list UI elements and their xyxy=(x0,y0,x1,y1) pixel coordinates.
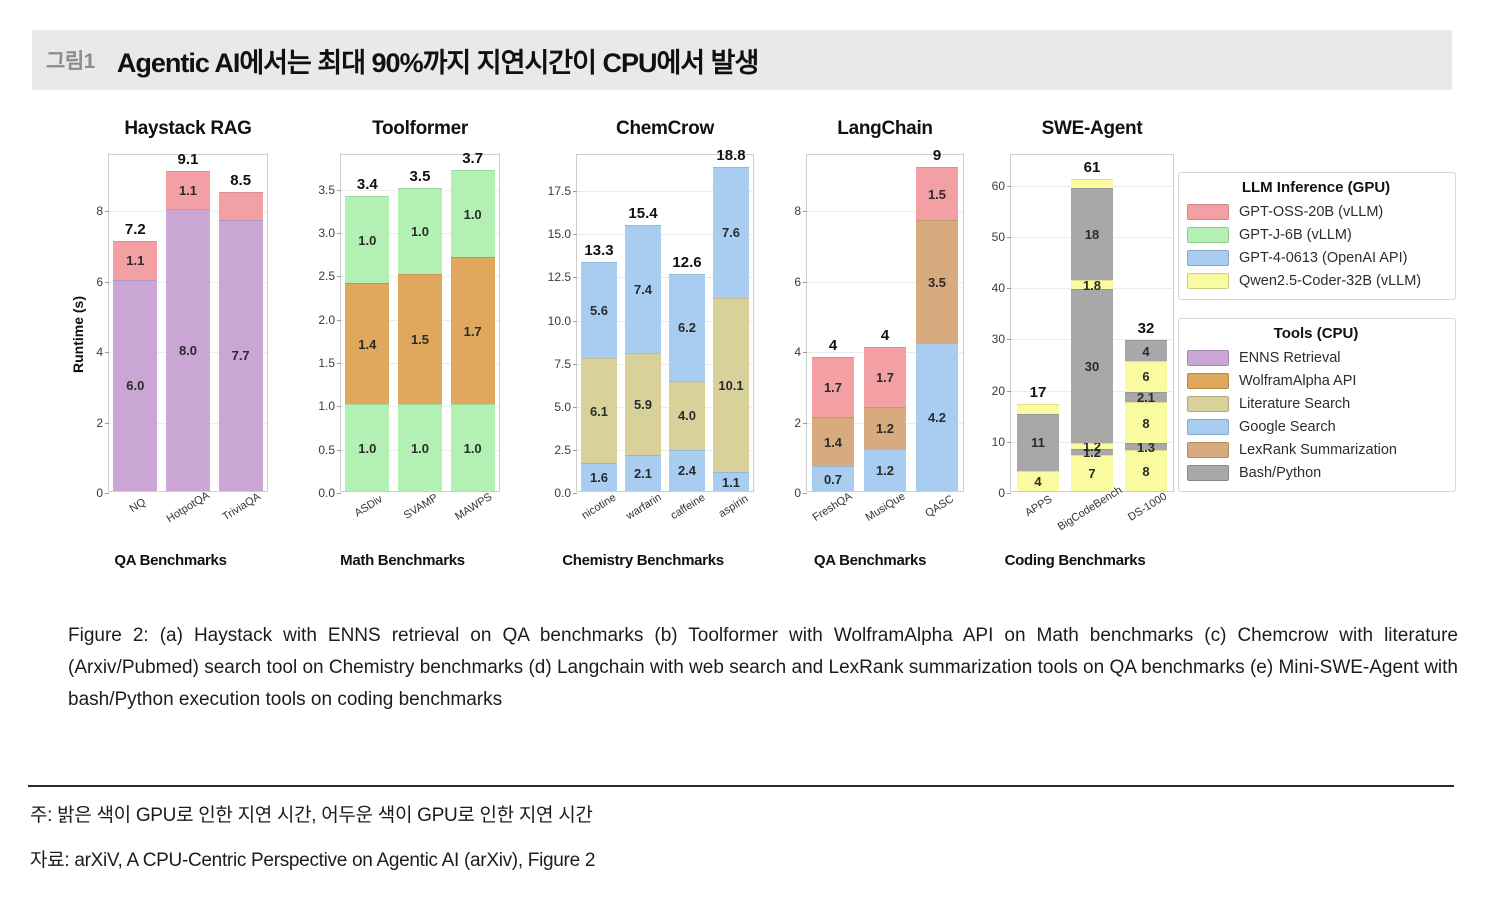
segment-value-label: 1.8 xyxy=(1083,279,1101,292)
segment-value-label: 1.5 xyxy=(928,188,946,201)
bar-segment: 1.4 xyxy=(812,417,854,466)
legend-item[interactable]: GPT-OSS-20B (vLLM) xyxy=(1187,200,1445,223)
bar-segment: 4 xyxy=(1017,471,1059,491)
legend-swatch-icon xyxy=(1187,250,1229,266)
y-tick-label: 10 xyxy=(992,435,1005,449)
bar-total-label: 8.5 xyxy=(230,172,251,189)
bar-asdiv: 1.01.41.03.4 xyxy=(345,196,389,491)
bar-segment: 6.2 xyxy=(669,274,705,381)
bar-segment xyxy=(1017,404,1059,414)
bar-segment: 1.0 xyxy=(451,170,495,257)
page-header: 그림1 Agentic AI에서는 최대 90%까지 지연시간이 CPU에서 발… xyxy=(32,30,1452,90)
y-tick-label: 2 xyxy=(96,416,103,430)
bar-group: 0.71.41.741.21.21.744.23.51.59 xyxy=(807,155,963,491)
segment-value-label: 1.1 xyxy=(126,254,144,267)
legend-swatch-icon xyxy=(1187,350,1229,366)
segment-value-label: 1.2 xyxy=(876,464,894,477)
segment-value-label: 1.6 xyxy=(590,471,608,484)
legend-item-label: GPT-OSS-20B (vLLM) xyxy=(1239,204,1383,220)
segment-value-label: 4.0 xyxy=(678,409,696,422)
bar-warfarin: 2.15.97.415.4 xyxy=(625,225,661,491)
y-tick-label: 0 xyxy=(794,486,801,500)
bar-total-label: 3.7 xyxy=(462,150,483,167)
bar-segment: 7.4 xyxy=(625,225,661,353)
y-tick xyxy=(337,493,341,494)
bar-segment: 1.2 xyxy=(864,449,906,491)
figure-caption: Figure 2: (a) Haystack with ENNS retriev… xyxy=(68,620,1458,716)
segment-value-label: 6 xyxy=(1142,370,1149,383)
segment-value-label: 7.7 xyxy=(232,349,250,362)
figure-page: 그림1 Agentic AI에서는 최대 90%까지 지연시간이 CPU에서 발… xyxy=(0,0,1490,910)
legend-item[interactable]: Qwen2.5-Coder-32B (vLLM) xyxy=(1187,269,1445,292)
legend-swatch-icon xyxy=(1187,396,1229,412)
legend-swatch-icon xyxy=(1187,419,1229,435)
y-tick-label: 2 xyxy=(794,416,801,430)
segment-value-label: 1.0 xyxy=(358,442,376,455)
segment-value-label: 10.1 xyxy=(718,379,743,392)
segment-value-label: 1.0 xyxy=(358,234,376,247)
y-tick-label: 2.0 xyxy=(318,313,335,327)
footer-divider xyxy=(28,785,1454,787)
bar-segment: 1.7 xyxy=(812,357,854,417)
y-axis-title-a: Runtime (s) xyxy=(70,296,86,373)
y-tick-label: 1.0 xyxy=(318,399,335,413)
legend-item[interactable]: LexRank Summarization xyxy=(1187,438,1445,461)
bar-mawps: 1.01.71.03.7 xyxy=(451,170,495,491)
segment-value-label: 7.6 xyxy=(722,226,740,239)
bar-qasc: 4.23.51.59 xyxy=(916,167,958,491)
legend-swatch-icon xyxy=(1187,465,1229,481)
y-tick-label: 12.5 xyxy=(548,270,571,284)
legend-swatch-icon xyxy=(1187,204,1229,220)
bar-nq: 6.01.17.2 xyxy=(113,241,157,491)
bar-segment xyxy=(219,192,263,220)
segment-value-label: 1.4 xyxy=(358,338,376,351)
bar-bigcodebench: 71.21.2301.81861 xyxy=(1071,179,1113,491)
segment-value-label: 1.0 xyxy=(411,225,429,238)
legend-item-label: Google Search xyxy=(1239,419,1336,435)
segment-value-label: 8 xyxy=(1142,417,1149,430)
bar-segment: 8.0 xyxy=(166,209,210,491)
segment-value-label: 0.7 xyxy=(824,473,842,486)
y-tick-label: 0 xyxy=(96,486,103,500)
segment-value-label: 5.9 xyxy=(634,398,652,411)
legend-item-label: WolframAlpha API xyxy=(1239,373,1356,389)
segment-value-label: 1.7 xyxy=(464,325,482,338)
legend-swatch-icon xyxy=(1187,273,1229,289)
bar-segment xyxy=(1071,179,1113,188)
y-tick-label: 15.0 xyxy=(548,227,571,241)
bar-musique: 1.21.21.74 xyxy=(864,347,906,491)
bar-segment: 7.6 xyxy=(713,167,749,298)
y-tick-label: 30 xyxy=(992,332,1005,346)
x-axis-title-c: Chemistry Benchmarks xyxy=(528,552,758,569)
bar-total-label: 17 xyxy=(1030,384,1047,401)
segment-value-label: 1.0 xyxy=(464,208,482,221)
bar-segment: 18 xyxy=(1071,188,1113,280)
bar-segment: 1.4 xyxy=(345,283,389,404)
y-tick-label: 8 xyxy=(96,204,103,218)
legend-item-label: ENNS Retrieval xyxy=(1239,350,1341,366)
x-tick-label: NQ xyxy=(127,496,147,515)
legend-item[interactable]: WolframAlpha API xyxy=(1187,369,1445,392)
bar-segment: 2.1 xyxy=(625,455,661,491)
bar-total-label: 9 xyxy=(933,147,941,164)
segment-value-label: 2.1 xyxy=(1137,391,1155,404)
bar-segment: 1.5 xyxy=(916,167,958,220)
y-tick-label: 2.5 xyxy=(554,443,571,457)
legend-item[interactable]: Google Search xyxy=(1187,415,1445,438)
bar-total-label: 7.2 xyxy=(125,221,146,238)
bar-nicotine: 1.66.15.613.3 xyxy=(581,262,617,491)
x-tick-label: caffeine xyxy=(669,492,708,522)
y-tick-label: 0.0 xyxy=(318,486,335,500)
bar-total-label: 32 xyxy=(1138,320,1155,337)
bar-aspirin: 1.110.17.618.8 xyxy=(713,167,749,491)
segment-value-label: 1.7 xyxy=(824,381,842,394)
bar-segment: 1.7 xyxy=(864,347,906,407)
bar-segment: 1.0 xyxy=(398,188,442,275)
legend-item-label: LexRank Summarization xyxy=(1239,442,1397,458)
bar-freshqa: 0.71.41.74 xyxy=(812,357,854,491)
x-axis-title-a: QA Benchmarks xyxy=(68,552,273,569)
panel-title-a: Haystack RAG xyxy=(108,118,268,144)
bar-segment: 4.0 xyxy=(669,381,705,450)
legend-item-label: Bash/Python xyxy=(1239,465,1321,481)
segment-value-label: 1.1 xyxy=(722,476,740,489)
x-tick-label: ASDiv xyxy=(352,493,384,519)
y-tick-label: 0 xyxy=(998,486,1005,500)
y-tick-label: 6 xyxy=(794,275,801,289)
segment-value-label: 1.7 xyxy=(876,371,894,384)
y-tick-label: 20 xyxy=(992,384,1005,398)
bar-segment: 4.2 xyxy=(916,343,958,491)
bar-total-label: 3.4 xyxy=(357,176,378,193)
y-tick-label: 1.5 xyxy=(318,356,335,370)
segment-value-label: 6.0 xyxy=(126,379,144,392)
bar-segment: 1.0 xyxy=(345,196,389,283)
segment-value-label: 2.4 xyxy=(678,464,696,477)
x-tick-label: aspirin xyxy=(716,493,750,520)
page-title: Agentic AI에서는 최대 90%까지 지연시간이 CPU에서 발생 xyxy=(117,41,759,80)
segment-value-label: 5.6 xyxy=(590,304,608,317)
x-tick-label: APPS xyxy=(1023,493,1054,519)
x-axis-title-e: Coding Benchmarks xyxy=(970,552,1180,569)
y-tick-label: 2.5 xyxy=(318,269,335,283)
segment-value-label: 6.2 xyxy=(678,321,696,334)
bar-segment: 1.1 xyxy=(113,241,157,280)
figure-number: 그림1 xyxy=(46,45,95,75)
bar-total-label: 12.6 xyxy=(672,254,701,271)
bar-segment: 1.1 xyxy=(713,472,749,491)
x-axis-title-d: QA Benchmarks xyxy=(770,552,970,569)
segment-value-label: 4.2 xyxy=(928,411,946,424)
segment-value-label: 11 xyxy=(1031,436,1045,449)
chart-panel-e: SWE-Agent01020304050604111771.21.2301.81… xyxy=(970,118,1180,144)
bar-segment: 8 xyxy=(1125,402,1167,443)
bar-total-label: 15.4 xyxy=(628,205,657,222)
chart-panel-b: Toolformer0.00.51.01.52.02.53.03.51.01.4… xyxy=(300,118,505,144)
x-tick-label: warfarin xyxy=(624,491,664,522)
bar-segment: 1.3 xyxy=(1125,443,1167,450)
plot-area-c: 0.02.55.07.510.012.515.017.51.66.15.613.… xyxy=(576,154,754,492)
bar-segment: 11 xyxy=(1017,414,1059,470)
segment-value-label: 1.1 xyxy=(179,184,197,197)
y-tick-label: 6 xyxy=(96,275,103,289)
segment-value-label: 4 xyxy=(1142,345,1149,358)
bar-segment: 3.5 xyxy=(916,220,958,343)
x-axis-title-b: Math Benchmarks xyxy=(300,552,505,569)
bar-segment: 7.7 xyxy=(219,220,263,491)
x-tick-label: SVAMP xyxy=(402,492,440,522)
segment-value-label: 2.1 xyxy=(634,467,652,480)
panel-title-d: LangChain xyxy=(806,118,964,144)
bar-total-label: 4 xyxy=(881,327,889,344)
bar-segment: 1.8 xyxy=(1071,280,1113,289)
y-tick-label: 40 xyxy=(992,281,1005,295)
bar-hotpotqa: 8.01.19.1 xyxy=(166,171,210,491)
y-tick-label: 0.0 xyxy=(554,486,571,500)
legend-item-label: Literature Search xyxy=(1239,396,1350,412)
legend-title: Tools (CPU) xyxy=(1187,325,1445,342)
chart-panel-a: Haystack RAG024686.01.17.28.01.19.17.78.… xyxy=(68,118,273,144)
bar-ds-1000: 81.382.16432 xyxy=(1125,340,1167,491)
segment-value-label: 1.4 xyxy=(824,436,842,449)
bar-group: 1.66.15.613.32.15.97.415.42.44.06.212.61… xyxy=(577,155,753,491)
chart-panel-d: LangChain024680.71.41.741.21.21.744.23.5… xyxy=(770,118,970,144)
bar-segment: 8 xyxy=(1125,450,1167,491)
legend-item[interactable]: GPT-J-6B (vLLM) xyxy=(1187,223,1445,246)
panel-title-c: ChemCrow xyxy=(576,118,754,144)
bar-segment: 1.2 xyxy=(864,407,906,449)
bar-segment: 1.0 xyxy=(345,404,389,491)
bar-segment: 10.1 xyxy=(713,298,749,472)
bar-segment: 6.0 xyxy=(113,280,157,491)
bar-segment: 1.1 xyxy=(166,171,210,210)
bar-segment: 2.4 xyxy=(669,450,705,491)
bar-total-label: 3.5 xyxy=(410,168,431,185)
segment-value-label: 8.0 xyxy=(179,344,197,357)
x-tick-label: TriviaQA xyxy=(221,491,263,524)
bar-triviaqa: 7.78.5 xyxy=(219,192,263,491)
legend-item[interactable]: Literature Search xyxy=(1187,392,1445,415)
bar-segment: 5.6 xyxy=(581,262,617,359)
y-tick xyxy=(105,493,109,494)
legend-item[interactable]: GPT-4-0613 (OpenAI API) xyxy=(1187,246,1445,269)
panel-title-b: Toolformer xyxy=(340,118,500,144)
y-tick xyxy=(573,493,577,494)
segment-value-label: 4 xyxy=(1034,475,1041,488)
legend-swatch-icon xyxy=(1187,442,1229,458)
legend-item[interactable]: ENNS Retrieval xyxy=(1187,346,1445,369)
bar-total-label: 18.8 xyxy=(716,147,745,164)
legend-tools-cpu: Tools (CPU)ENNS RetrievalWolframAlpha AP… xyxy=(1178,318,1456,492)
bar-segment: 1.0 xyxy=(398,404,442,491)
y-tick-label: 50 xyxy=(992,230,1005,244)
bar-group: 6.01.17.28.01.19.17.78.5 xyxy=(109,155,267,491)
legend-swatch-icon xyxy=(1187,227,1229,243)
x-tick-label: nicotine xyxy=(580,492,619,522)
bar-segment: 0.7 xyxy=(812,466,854,491)
bar-segment: 1.0 xyxy=(451,404,495,491)
y-tick-label: 4 xyxy=(794,345,801,359)
legend-title: LLM Inference (GPU) xyxy=(1187,179,1445,196)
segment-value-label: 7 xyxy=(1088,467,1095,480)
y-tick-label: 0.5 xyxy=(318,443,335,457)
bar-apps: 41117 xyxy=(1017,404,1059,491)
legend-item-label: GPT-4-0613 (OpenAI API) xyxy=(1239,250,1407,266)
segment-value-label: 30 xyxy=(1085,360,1099,373)
legend-item-label: Qwen2.5-Coder-32B (vLLM) xyxy=(1239,273,1421,289)
footer-note: 주: 밝은 색이 GPU로 인한 지연 시간, 어두운 색이 GPU로 인한 지… xyxy=(30,800,593,827)
bar-segment: 30 xyxy=(1071,289,1113,443)
chart-panel-c: ChemCrow0.02.55.07.510.012.515.017.51.66… xyxy=(528,118,758,144)
y-tick xyxy=(803,493,807,494)
bar-svamp: 1.01.51.03.5 xyxy=(398,188,442,491)
y-tick-label: 10.0 xyxy=(548,314,571,328)
legend-item[interactable]: Bash/Python xyxy=(1187,461,1445,484)
y-tick-label: 3.0 xyxy=(318,226,335,240)
bar-total-label: 4 xyxy=(829,337,837,354)
y-tick-label: 8 xyxy=(794,204,801,218)
y-tick-label: 5.0 xyxy=(554,400,571,414)
bar-total-label: 61 xyxy=(1084,159,1101,176)
bar-total-label: 9.1 xyxy=(178,151,199,168)
segment-value-label: 1.2 xyxy=(876,422,894,435)
y-tick xyxy=(1007,493,1011,494)
bar-group: 4111771.21.2301.8186181.382.16432 xyxy=(1011,155,1173,491)
legend-llm-inference-gpu: LLM Inference (GPU)GPT-OSS-20B (vLLM)GPT… xyxy=(1178,172,1456,300)
segment-value-label: 7.4 xyxy=(634,283,652,296)
legend-swatch-icon xyxy=(1187,373,1229,389)
plot-area-a: 024686.01.17.28.01.19.17.78.5 xyxy=(108,154,268,492)
segment-value-label: 6.1 xyxy=(590,405,608,418)
y-tick-label: 7.5 xyxy=(554,357,571,371)
bar-segment: 1.6 xyxy=(581,463,617,491)
segment-value-label: 1.0 xyxy=(464,442,482,455)
segment-value-label: 8 xyxy=(1142,465,1149,478)
bar-segment: 6.1 xyxy=(581,358,617,463)
x-tick-label: FreshQA xyxy=(811,490,855,524)
segment-value-label: 1.5 xyxy=(411,333,429,346)
bar-segment: 1.7 xyxy=(451,257,495,404)
y-tick-label: 4 xyxy=(96,345,103,359)
plot-area-b: 0.00.51.01.52.02.53.03.51.01.41.03.41.01… xyxy=(340,154,500,492)
bar-segment: 6 xyxy=(1125,361,1167,392)
x-tick-label: DS-1000 xyxy=(1126,490,1169,523)
y-tick-label: 17.5 xyxy=(548,184,571,198)
x-tick-label: MusiQue xyxy=(864,490,908,524)
bar-total-label: 13.3 xyxy=(584,242,613,259)
bar-segment: 4 xyxy=(1125,340,1167,360)
segment-value-label: 3.5 xyxy=(928,276,946,289)
y-tick-label: 60 xyxy=(992,179,1005,193)
x-tick-label: MAWPS xyxy=(453,491,494,523)
bar-segment: 1.5 xyxy=(398,274,442,404)
bar-group: 1.01.41.03.41.01.51.03.51.01.71.03.7 xyxy=(341,155,499,491)
plot-area-d: 024680.71.41.741.21.21.744.23.51.59 xyxy=(806,154,964,492)
segment-value-label: 1.0 xyxy=(411,442,429,455)
bar-segment: 7 xyxy=(1071,455,1113,491)
bar-caffeine: 2.44.06.212.6 xyxy=(669,274,705,491)
plot-area-e: 01020304050604111771.21.2301.8186181.382… xyxy=(1010,154,1174,492)
y-tick-label: 3.5 xyxy=(318,183,335,197)
x-tick-label: HotpotQA xyxy=(164,489,211,525)
panel-title-e: SWE-Agent xyxy=(1010,118,1174,144)
segment-value-label: 18 xyxy=(1085,228,1099,241)
legend-item-label: GPT-J-6B (vLLM) xyxy=(1239,227,1352,243)
x-tick-label: QASC xyxy=(923,493,956,520)
bar-segment: 1.2 xyxy=(1071,443,1113,449)
footer-source: 자료: arXiV, A CPU-Centric Perspective on … xyxy=(30,845,595,872)
bar-segment: 2.1 xyxy=(1125,392,1167,403)
bar-segment: 5.9 xyxy=(625,353,661,455)
